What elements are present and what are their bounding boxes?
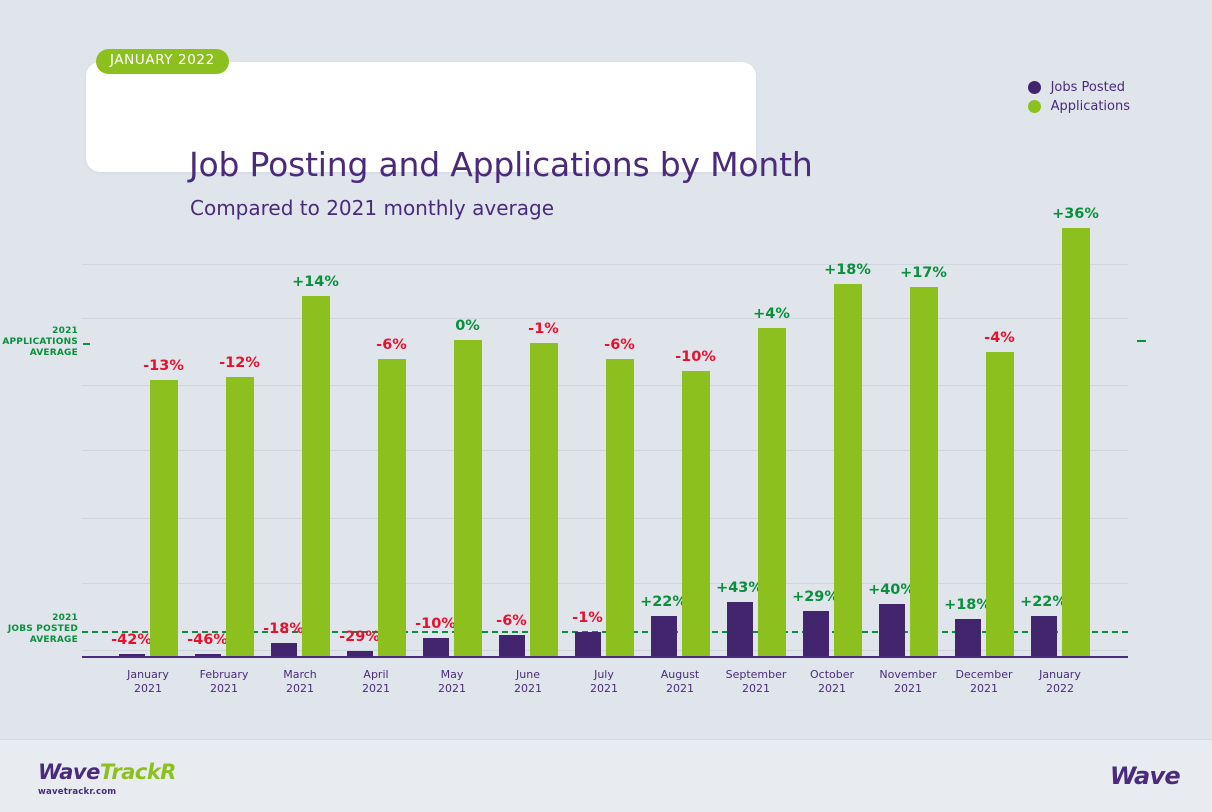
bar-group: -29%-6% [338,200,414,658]
bar-group: +22%+36% [1022,200,1098,658]
jobs-posted-average-line1: 2021 [0,613,78,624]
bar-value-label: +14% [292,274,339,290]
bar-jobs-posted[interactable]: +18% [955,619,981,658]
x-axis-label-year: 2021 [186,682,262,696]
x-axis-label: August2021 [642,668,718,696]
bar-group: -1%-6% [566,200,642,658]
bar-value-label: -46% [187,632,228,648]
x-axis-label-month: June [490,668,566,682]
bar-value-label: +4% [753,306,790,322]
x-axis-label-month: December [946,668,1022,682]
x-axis-label: November2021 [870,668,946,696]
x-axis-label-year: 2021 [642,682,718,696]
x-axis-label: January2022 [1022,668,1098,696]
chart-page: Job Posting and Applications by Month Co… [0,0,1212,812]
plot-area: -42%-13%-46%-12%-18%+14%-29%-6%-10%0%-6%… [82,200,1128,658]
bar-value-label: -18% [263,621,304,637]
bar-applications[interactable]: +18% [834,284,862,658]
x-axis-label-year: 2021 [490,682,566,696]
bar-applications[interactable]: -4% [986,352,1014,658]
x-axis-label-month: October [794,668,870,682]
x-axis-labels: January2021February2021March2021April202… [82,668,1128,708]
bar-value-label: +29% [792,589,839,605]
x-axis-label: September2021 [718,668,794,696]
x-axis-label: March2021 [262,668,338,696]
bar-jobs-posted[interactable]: +22% [651,616,677,658]
title-card: Job Posting and Applications by Month Co… [86,62,756,172]
chart-legend: Jobs Posted Applications [1028,80,1130,118]
jobs-posted-average-line2: JOBS POSTED [0,624,78,635]
bar-applications[interactable]: -13% [150,380,178,658]
bar-value-label: -1% [572,610,603,626]
bar-jobs-posted[interactable]: +43% [727,602,753,658]
bar-value-label: -4% [984,330,1015,346]
bar-applications[interactable]: +17% [910,287,938,658]
bar-value-label: +40% [868,582,915,598]
legend-dot-icon [1028,100,1041,113]
axis-baseline [82,656,1128,659]
bar-applications[interactable]: 0% [454,340,482,658]
bar-value-label: -6% [376,337,407,353]
bar-group: +40%+17% [870,200,946,658]
legend-label: Applications [1051,99,1130,114]
x-axis-label: January2021 [110,668,186,696]
applications-average-line1: 2021 [0,326,78,337]
bar-applications[interactable]: +36% [1062,228,1090,658]
bar-jobs-posted[interactable]: +22% [1031,616,1057,658]
bar-value-label: -10% [675,349,716,365]
bar-group: -18%+14% [262,200,338,658]
x-axis-label-year: 2021 [718,682,794,696]
x-axis-label-year: 2021 [946,682,1022,696]
brand-part1: Wave [38,760,100,784]
applications-average-line2: APPLICATIONS [0,337,78,348]
bar-applications[interactable]: -12% [226,377,254,658]
x-axis-label-year: 2021 [262,682,338,696]
x-axis-label-year: 2022 [1022,682,1098,696]
x-axis-label: February2021 [186,668,262,696]
applications-average-line3: AVERAGE [0,348,78,359]
bar-applications[interactable]: +4% [758,328,786,658]
x-axis-label-month: May [414,668,490,682]
brand-logo[interactable]: WaveTrackR wavetrackr.com [38,762,176,797]
bar-jobs-posted[interactable]: -1% [575,632,601,658]
applications-average-label: 2021 APPLICATIONS AVERAGE [0,326,78,359]
bar-value-label: -42% [111,632,152,648]
brand-wordmark: WaveTrackR [38,762,176,783]
bar-value-label: -6% [604,337,635,353]
footer-bar [0,739,1212,812]
x-axis-label-month: March [262,668,338,682]
bar-value-label: 0% [455,318,480,334]
x-axis-label-month: January [1022,668,1098,682]
bar-group: +18%-4% [946,200,1022,658]
legend-item-applications[interactable]: Applications [1028,99,1130,114]
bar-value-label: +18% [944,597,991,613]
x-axis-label-year: 2021 [338,682,414,696]
bar-value-label: -1% [528,321,559,337]
bar-value-label: +17% [900,265,947,281]
bar-group: +43%+4% [718,200,794,658]
legend-label: Jobs Posted [1051,80,1125,95]
x-axis-label: July2021 [566,668,642,696]
x-axis-label: October2021 [794,668,870,696]
x-axis-label-month: September [718,668,794,682]
bar-value-label: +18% [824,262,871,278]
x-axis-label: June2021 [490,668,566,696]
x-axis-label-year: 2021 [110,682,186,696]
bar-group: -6%-1% [490,200,566,658]
x-axis-label-year: 2021 [870,682,946,696]
date-badge: JANUARY 2022 [96,49,229,74]
bar-group: +29%+18% [794,200,870,658]
bar-applications[interactable]: +14% [302,296,330,658]
bar-value-label: +36% [1052,206,1099,222]
x-axis-label-year: 2021 [566,682,642,696]
x-axis-label-month: July [566,668,642,682]
bar-applications[interactable]: -6% [378,359,406,658]
bar-jobs-posted[interactable]: +29% [803,611,829,658]
page-title: Job Posting and Applications by Month [189,145,813,184]
bar-group: -46%-12% [186,200,262,658]
x-axis-label-year: 2021 [794,682,870,696]
x-axis-label-month: August [642,668,718,682]
bar-jobs-posted[interactable]: +40% [879,604,905,658]
bar-value-label: +43% [716,580,763,596]
bar-applications[interactable]: -10% [682,371,710,658]
brand-url: wavetrackr.com [38,787,176,797]
x-axis-label-month: February [186,668,262,682]
x-axis-label-year: 2021 [414,682,490,696]
bar-applications[interactable]: -1% [530,343,558,658]
bar-group: -42%-13% [110,200,186,658]
legend-dot-icon [1028,81,1041,94]
brand-part2: TrackR [100,760,176,784]
x-axis-label: April2021 [338,668,414,696]
bar-value-label: -6% [496,613,527,629]
bar-value-label: -10% [415,616,456,632]
applications-average-tick-icon [1137,340,1146,342]
jobs-posted-average-line3: AVERAGE [0,635,78,646]
bar-value-label: -12% [219,355,260,371]
x-axis-label-month: January [110,668,186,682]
bar-value-label: +22% [1020,594,1067,610]
legend-item-jobs-posted[interactable]: Jobs Posted [1028,80,1130,95]
jobs-posted-average-label: 2021 JOBS POSTED AVERAGE [0,613,78,646]
bar-group: -10%0% [414,200,490,658]
wave-logo[interactable]: Wave [1110,762,1180,790]
bar-group: +22%-10% [642,200,718,658]
x-axis-label-month: April [338,668,414,682]
bar-value-label: -29% [339,629,380,645]
x-axis-label: May2021 [414,668,490,696]
x-axis-label-month: November [870,668,946,682]
x-axis-label: December2021 [946,668,1022,696]
bar-value-label: +22% [640,594,687,610]
bar-applications[interactable]: -6% [606,359,634,658]
bar-value-label: -13% [143,358,184,374]
